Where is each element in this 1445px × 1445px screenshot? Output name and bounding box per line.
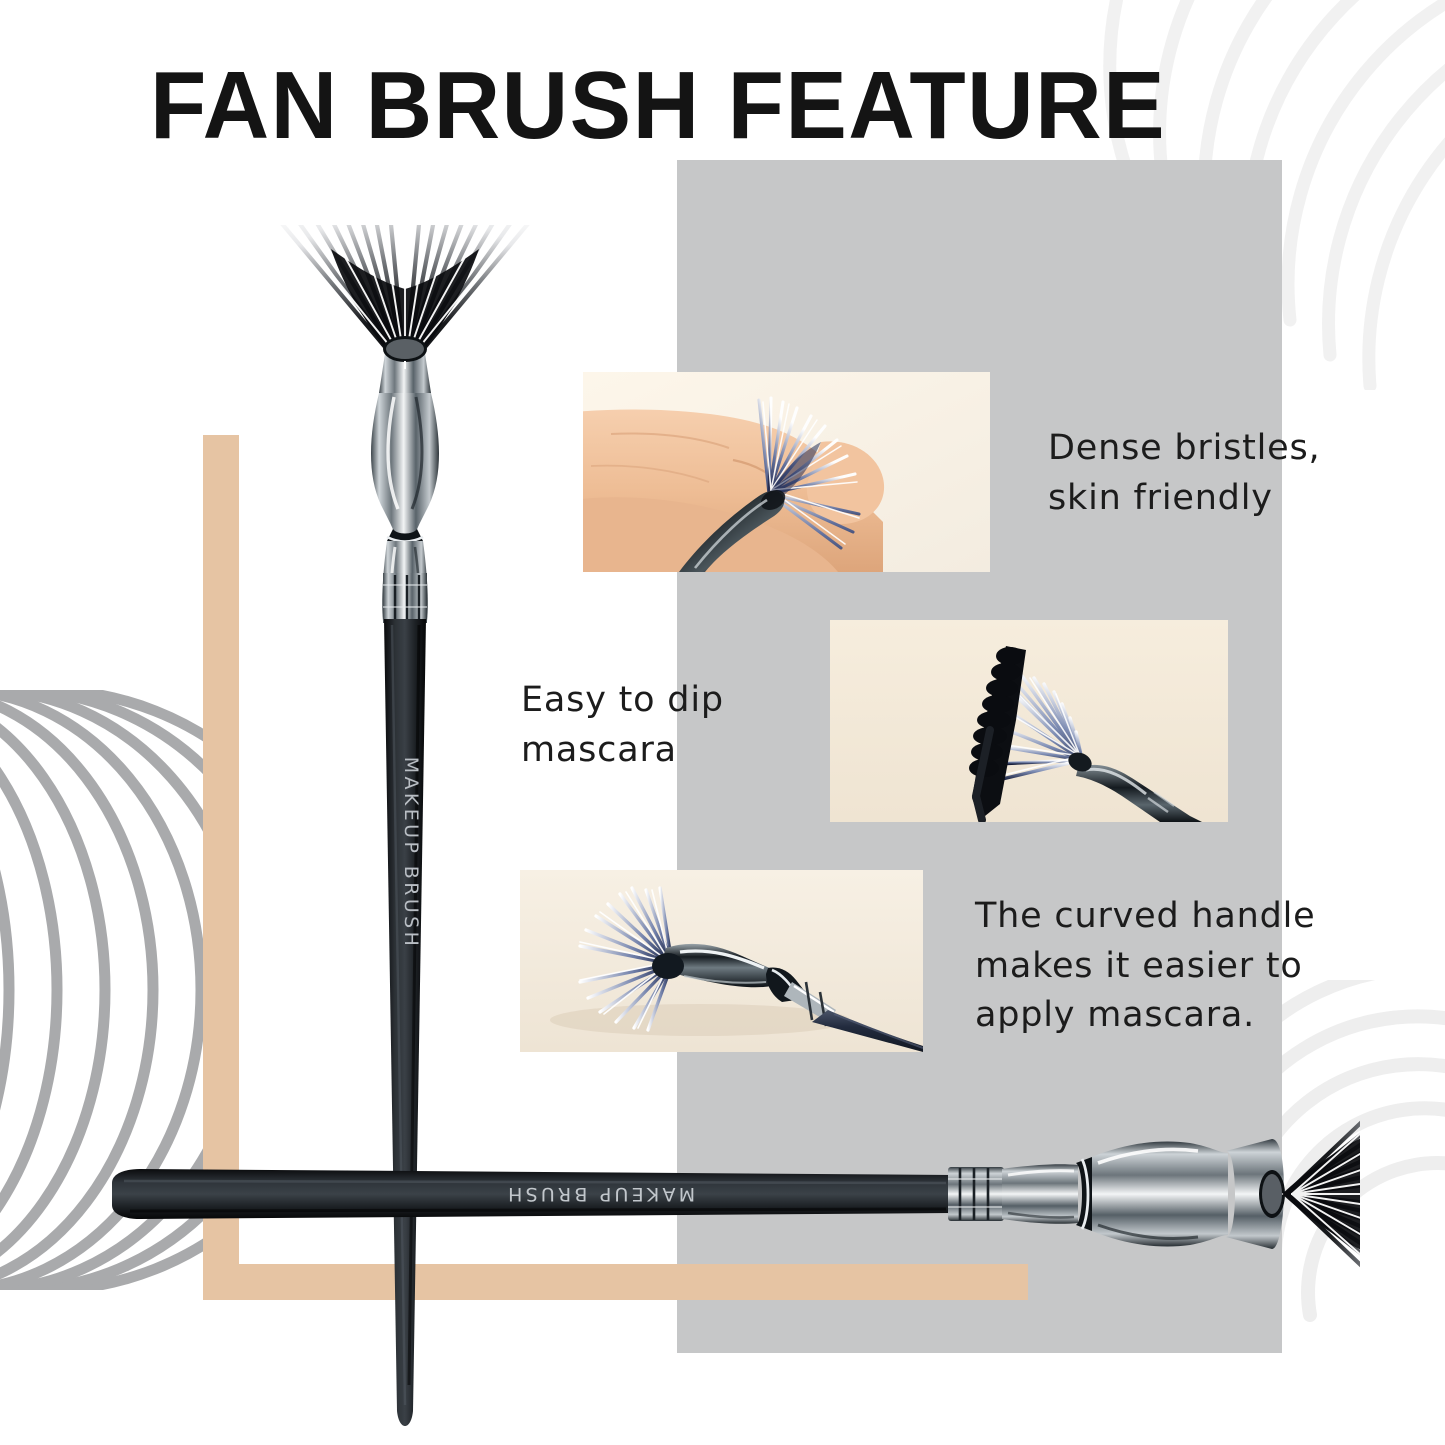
photo-fingers-holding-brush	[583, 372, 990, 572]
product-brush-horizontal: MAKEUP BRUSH	[100, 1095, 1360, 1305]
callout-dense-bristles: Dense bristles, skin friendly	[1048, 424, 1320, 523]
brush-handle-label-vertical: MAKEUP BRUSH	[400, 757, 422, 950]
page-title: FAN BRUSH FEATURE	[150, 57, 1166, 155]
brush-handle-label-horizontal: MAKEUP BRUSH	[505, 1183, 695, 1205]
poster-canvas: FAN BRUSH FEATURE	[0, 0, 1445, 1445]
photo-brush-lying-flat	[520, 870, 923, 1052]
photo-mascara-wand-on-brush	[830, 620, 1228, 822]
callout-curved-handle: The curved handle makes it easier to app…	[975, 892, 1316, 1041]
